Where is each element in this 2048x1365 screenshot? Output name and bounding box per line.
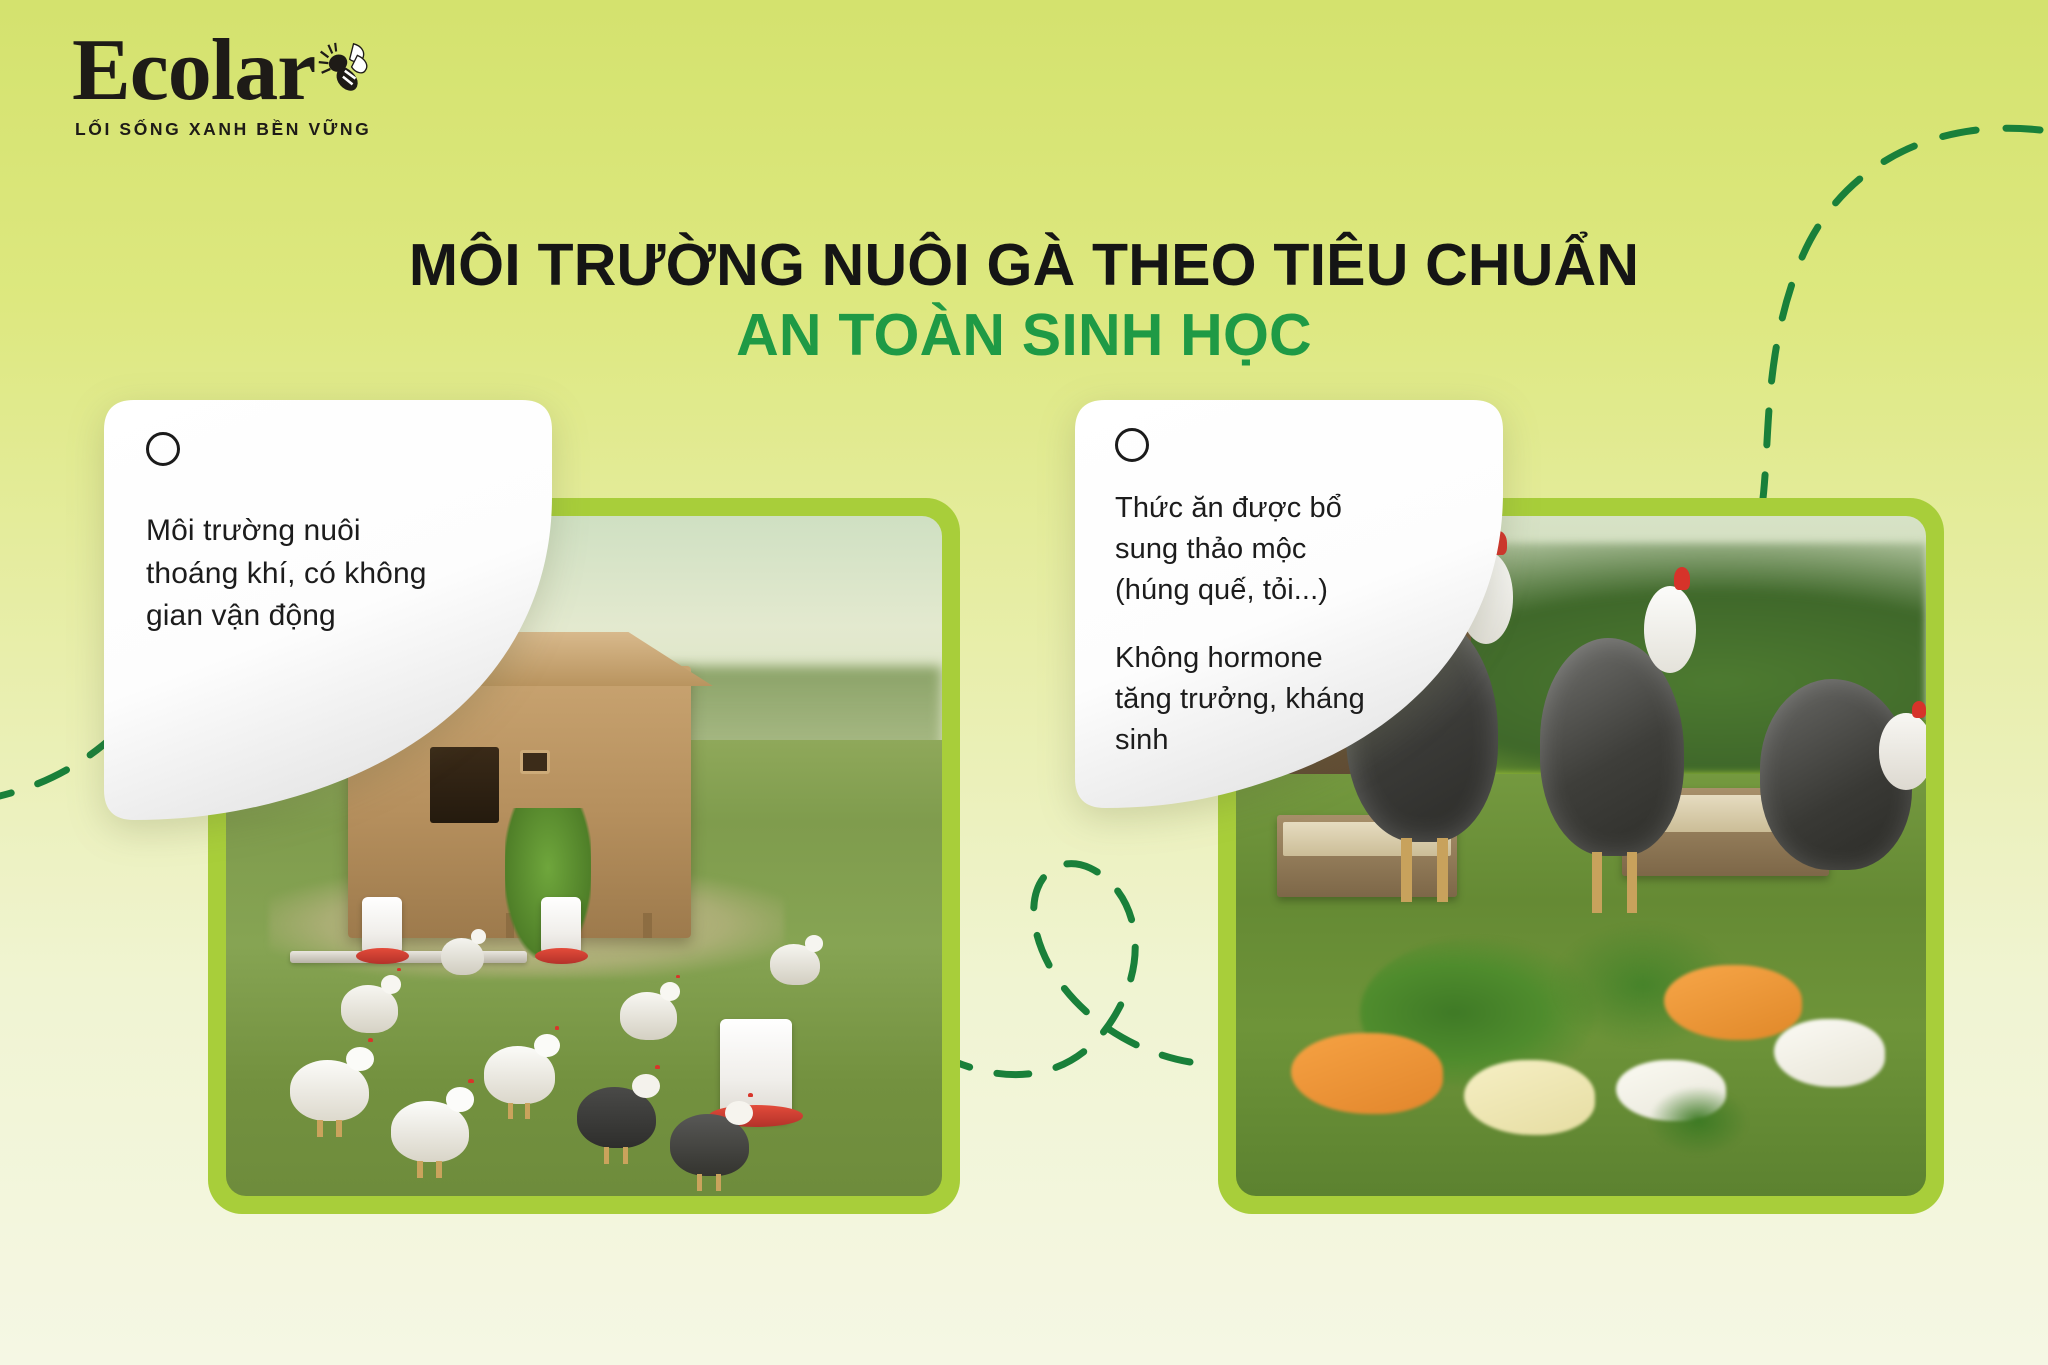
bubble-paragraph-1: Thức ăn được bổ sung thảo mộc (húng quế,… (1115, 488, 1365, 612)
bee-icon (309, 38, 371, 94)
title-line-2: AN TOÀN SINH HỌC (0, 302, 2048, 368)
brand-tagline: LỐI SỐNG XANH BỀN VỮNG (75, 119, 371, 140)
title-line-1: MÔI TRƯỜNG NUÔI GÀ THEO TIÊU CHUẨN (0, 232, 2048, 298)
brand-logo: Ecolar LỐI SỐNG XANH BỀN VỮNG (72, 30, 371, 140)
bubble-content: Môi trường nuôi thoáng khí, có không gia… (104, 400, 552, 670)
dashed-loop-icon (940, 864, 1190, 1075)
circle-outline-icon (1115, 428, 1149, 462)
bubble-environment: Môi trường nuôi thoáng khí, có không gia… (104, 400, 552, 820)
page-title: MÔI TRƯỜNG NUÔI GÀ THEO TIÊU CHUẨN AN TO… (0, 232, 2048, 368)
brand-name: Ecolar (72, 30, 315, 113)
bubble-paragraph: Môi trường nuôi thoáng khí, có không gia… (146, 510, 456, 638)
bubble-content: Thức ăn được bổ sung thảo mộc (húng quế,… (1075, 400, 1503, 789)
bubble-paragraph-2: Không hormone tăng trưởng, kháng sinh (1115, 638, 1365, 762)
bubble-feed: Thức ăn được bổ sung thảo mộc (húng quế,… (1075, 400, 1503, 808)
circle-outline-icon (146, 432, 180, 466)
